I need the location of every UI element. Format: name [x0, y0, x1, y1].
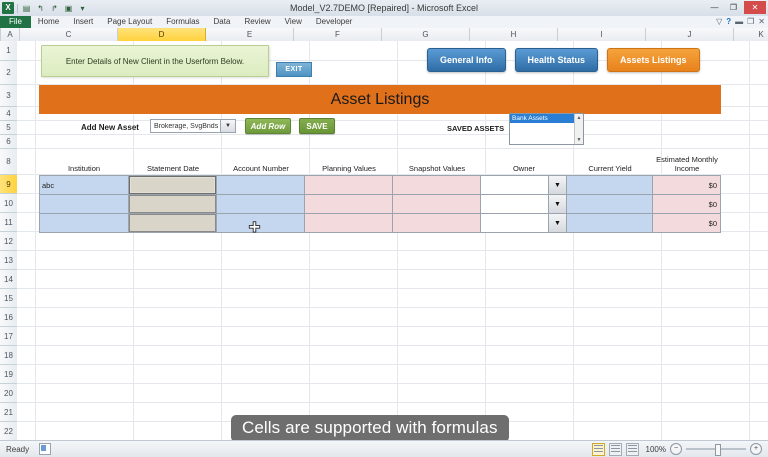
grid-line-h [17, 120, 768, 121]
cell-institution[interactable]: abc [39, 176, 129, 195]
close-button[interactable]: ✕ [744, 1, 766, 14]
saved-assets-label: SAVED ASSETS [447, 124, 504, 133]
cell-owner[interactable]: ▼ [481, 195, 567, 214]
row-headers: 1234568910111213141516171819202122 [0, 41, 18, 440]
navigation-buttons: General InfoHealth StatusAssets Listings [427, 48, 700, 72]
caption-overlay: Cells are supported with formulas [231, 415, 509, 440]
column-header-A[interactable]: A [1, 28, 20, 41]
grid-line-h [17, 250, 768, 251]
column-header-K[interactable]: K [734, 28, 768, 41]
row-header-16[interactable]: 16 [0, 308, 17, 327]
table-row: ▼$0 [39, 195, 721, 214]
nav-button-general-info[interactable]: General Info [427, 48, 506, 72]
header-line-2: Income [653, 164, 721, 173]
row-header-19[interactable]: 19 [0, 365, 17, 384]
statement-date-box[interactable] [129, 176, 216, 194]
grid-line-h [17, 288, 768, 289]
row-header-17[interactable]: 17 [0, 327, 17, 346]
grid-line-h [17, 148, 768, 149]
saved-assets-listbox[interactable]: Bank Assets ▲ ▼ [509, 113, 584, 145]
asset-table: InstitutionStatement DateAccount NumberP… [39, 151, 721, 233]
cell-snapshot-values[interactable] [393, 195, 481, 214]
row-header-14[interactable]: 14 [0, 270, 17, 289]
column-header-G[interactable]: G [382, 28, 470, 41]
row-header-2[interactable]: 2 [0, 61, 17, 85]
tab-review[interactable]: Review [237, 16, 277, 28]
cell-estimated-monthly-income[interactable]: $0 [653, 195, 721, 214]
cell-account-number[interactable] [217, 176, 305, 195]
asset-type-dropdown[interactable]: Brokerage, SvgBnds ▼ [150, 119, 236, 133]
table-body: abc▼$0▼$0▼$0 [39, 175, 721, 233]
status-bar: Ready 100% − + [0, 440, 768, 457]
excel-window: X ▤ ↰ ↱ ▣ ▾ Model_V2.7DEMO [Repaired] - … [0, 0, 768, 456]
cell-planning-values[interactable] [305, 214, 393, 233]
cell-statement-date[interactable] [129, 214, 217, 233]
column-header-F[interactable]: F [294, 28, 382, 41]
cell-text: $0 [653, 181, 720, 190]
grid-line-h [17, 364, 768, 365]
column-header-H[interactable]: H [470, 28, 558, 41]
listbox-scrollbar[interactable]: ▲ ▼ [574, 114, 583, 144]
saved-assets-items: Bank Assets [510, 114, 583, 123]
row-header-21[interactable]: 21 [0, 403, 17, 422]
row-header-11[interactable]: 11 [0, 213, 17, 232]
grid-line-h [17, 269, 768, 270]
column-headers: ACDEFGHIJK [0, 28, 768, 42]
cell-text: $0 [653, 200, 720, 209]
tab-home[interactable]: Home [31, 16, 66, 28]
add-new-asset-label: Add New Asset [81, 123, 139, 132]
page-layout-view-icon[interactable] [609, 443, 622, 456]
header-line-1: Owner [481, 164, 567, 173]
cell-estimated-monthly-income[interactable]: $0 [653, 176, 721, 195]
instruction-banner: Enter Details of New Client in the Userf… [41, 45, 269, 77]
select-all-corner[interactable] [0, 28, 1, 41]
row-header-6[interactable]: 6 [0, 135, 17, 149]
zoom-slider[interactable] [686, 444, 746, 454]
row-header-4[interactable]: 4 [0, 107, 17, 121]
cell-current-yield[interactable] [567, 176, 653, 195]
statement-date-box[interactable] [129, 195, 216, 213]
statement-date-box[interactable] [129, 214, 216, 232]
header-line-1: Current Yield [567, 164, 653, 173]
zoom-level: 100% [646, 445, 666, 454]
help-icon[interactable]: ? [726, 16, 731, 28]
header-line-1: Institution [39, 164, 129, 173]
column-header-cell: Planning Values [305, 164, 393, 175]
cell-owner[interactable]: ▼ [481, 214, 567, 233]
cell-text: $0 [653, 219, 720, 228]
grid-line-h [17, 307, 768, 308]
grid-line-v [749, 41, 750, 440]
tab-formulas[interactable]: Formulas [159, 16, 206, 28]
row-header-13[interactable]: 13 [0, 251, 17, 270]
scroll-down-icon[interactable]: ▼ [575, 136, 583, 144]
column-header-D[interactable]: D [118, 28, 206, 41]
header-line-1: Snapshot Values [393, 164, 481, 173]
column-header-I[interactable]: I [558, 28, 646, 41]
tab-file[interactable]: File [0, 16, 31, 28]
restore-window-icon[interactable]: ❐ [747, 16, 754, 28]
nav-button-health-status[interactable]: Health Status [515, 48, 599, 72]
minimize-button[interactable]: — [706, 1, 723, 14]
owner-dropdown-icon[interactable]: ▼ [548, 214, 566, 232]
chevron-down-icon[interactable]: ▼ [220, 120, 235, 132]
column-header-J[interactable]: J [646, 28, 734, 41]
row-header-10[interactable]: 10 [0, 194, 17, 213]
header-line-1: Planning Values [305, 164, 393, 173]
tab-developer[interactable]: Developer [309, 16, 359, 28]
row-header-5[interactable]: 5 [0, 121, 17, 135]
grid-line-v [35, 41, 36, 440]
title-bar: X ▤ ↰ ↱ ▣ ▾ Model_V2.7DEMO [Repaired] - … [0, 0, 768, 17]
row-header-22[interactable]: 22 [0, 422, 17, 441]
row-header-12[interactable]: 12 [0, 232, 17, 251]
status-right-group: 100% − + [592, 443, 762, 456]
restore-button[interactable]: ❐ [725, 1, 742, 14]
column-header-list: ACDEFGHIJK [1, 28, 768, 41]
cell-planning-values[interactable] [305, 176, 393, 195]
ribbon-tabs: FileHomeInsertPage LayoutFormulasDataRev… [0, 16, 359, 28]
window-controls: — ❐ ✕ [706, 1, 766, 14]
zoom-out-button[interactable]: − [670, 443, 682, 455]
nav-button-assets-listings[interactable]: Assets Listings [607, 48, 700, 72]
tab-page-layout[interactable]: Page Layout [100, 16, 159, 28]
grid-line-h [17, 402, 768, 403]
row-header-1[interactable]: 1 [0, 41, 17, 61]
cell-text: abc [40, 181, 54, 190]
header-line-1: Estimated Monthly [653, 155, 721, 164]
cell-current-yield[interactable] [567, 214, 653, 233]
column-header-cell: Snapshot Values [393, 164, 481, 175]
status-state: Ready [6, 445, 29, 454]
ribbon-options-icon[interactable]: ▽ [716, 16, 722, 28]
worksheet-canvas[interactable]: Enter Details of New Client in the Userf… [17, 41, 768, 440]
cell-institution[interactable] [39, 195, 129, 214]
add-row-button[interactable]: Add Row [245, 118, 291, 134]
tab-view[interactable]: View [278, 16, 309, 28]
asset-type-value: Brokerage, SvgBnds [151, 123, 218, 130]
column-header-cell: Account Number [217, 164, 305, 175]
row-header-8[interactable]: 8 [0, 149, 17, 175]
macro-record-icon[interactable] [39, 443, 51, 455]
column-header-cell: Estimated MonthlyIncome [653, 155, 721, 175]
page-break-view-icon[interactable] [626, 443, 639, 456]
save-button[interactable]: SAVE [299, 118, 335, 134]
page-title: Asset Listings [39, 85, 721, 114]
column-header-E[interactable]: E [206, 28, 294, 41]
grid-line-h [17, 345, 768, 346]
listbox-item[interactable]: Bank Assets [510, 114, 583, 123]
column-header-cell: Statement Date [129, 164, 217, 175]
cell-account-number[interactable] [217, 214, 305, 233]
window-title: Model_V2.7DEMO [Repaired] - Microsoft Ex… [0, 0, 768, 16]
tab-data[interactable]: Data [207, 16, 238, 28]
ribbon-right-icons: ▽?▬❐✕ [716, 16, 765, 28]
cell-estimated-monthly-income[interactable]: $0 [653, 214, 721, 233]
row-header-18[interactable]: 18 [0, 346, 17, 365]
zoom-in-button[interactable]: + [750, 443, 762, 455]
row-header-15[interactable]: 15 [0, 289, 17, 308]
row-header-20[interactable]: 20 [0, 384, 17, 403]
cell-statement-date[interactable] [129, 176, 217, 195]
cell-institution[interactable] [39, 214, 129, 233]
table-row: ▼$0 [39, 214, 721, 233]
owner-dropdown-icon[interactable]: ▼ [548, 195, 566, 213]
tab-insert[interactable]: Insert [66, 16, 100, 28]
grid-line-h [17, 326, 768, 327]
row-header-9[interactable]: 9 [0, 175, 17, 194]
cell-account-number[interactable] [217, 195, 305, 214]
owner-dropdown-icon[interactable]: ▼ [548, 176, 566, 194]
header-line-1: Account Number [217, 164, 305, 173]
row-header-3[interactable]: 3 [0, 85, 17, 107]
minimize-ribbon-icon[interactable]: ▬ [735, 16, 743, 28]
cell-current-yield[interactable] [567, 195, 653, 214]
scroll-up-icon[interactable]: ▲ [575, 114, 583, 122]
cell-snapshot-values[interactable] [393, 176, 481, 195]
cell-snapshot-values[interactable] [393, 214, 481, 233]
exit-button[interactable]: EXIT [276, 62, 312, 77]
close-window-icon[interactable]: ✕ [758, 16, 765, 28]
column-header-C[interactable]: C [20, 28, 118, 41]
grid-line-h [17, 134, 768, 135]
cell-owner[interactable]: ▼ [481, 176, 567, 195]
table-row: abc▼$0 [39, 176, 721, 195]
header-line-1: Statement Date [129, 164, 217, 173]
table-header-row: InstitutionStatement DateAccount NumberP… [39, 151, 721, 175]
column-header-cell: Current Yield [567, 164, 653, 175]
column-header-cell: Owner [481, 164, 567, 175]
column-header-cell: Institution [39, 164, 129, 175]
grid-line-h [17, 383, 768, 384]
cell-statement-date[interactable] [129, 195, 217, 214]
normal-view-icon[interactable] [592, 443, 605, 456]
cell-planning-values[interactable] [305, 195, 393, 214]
